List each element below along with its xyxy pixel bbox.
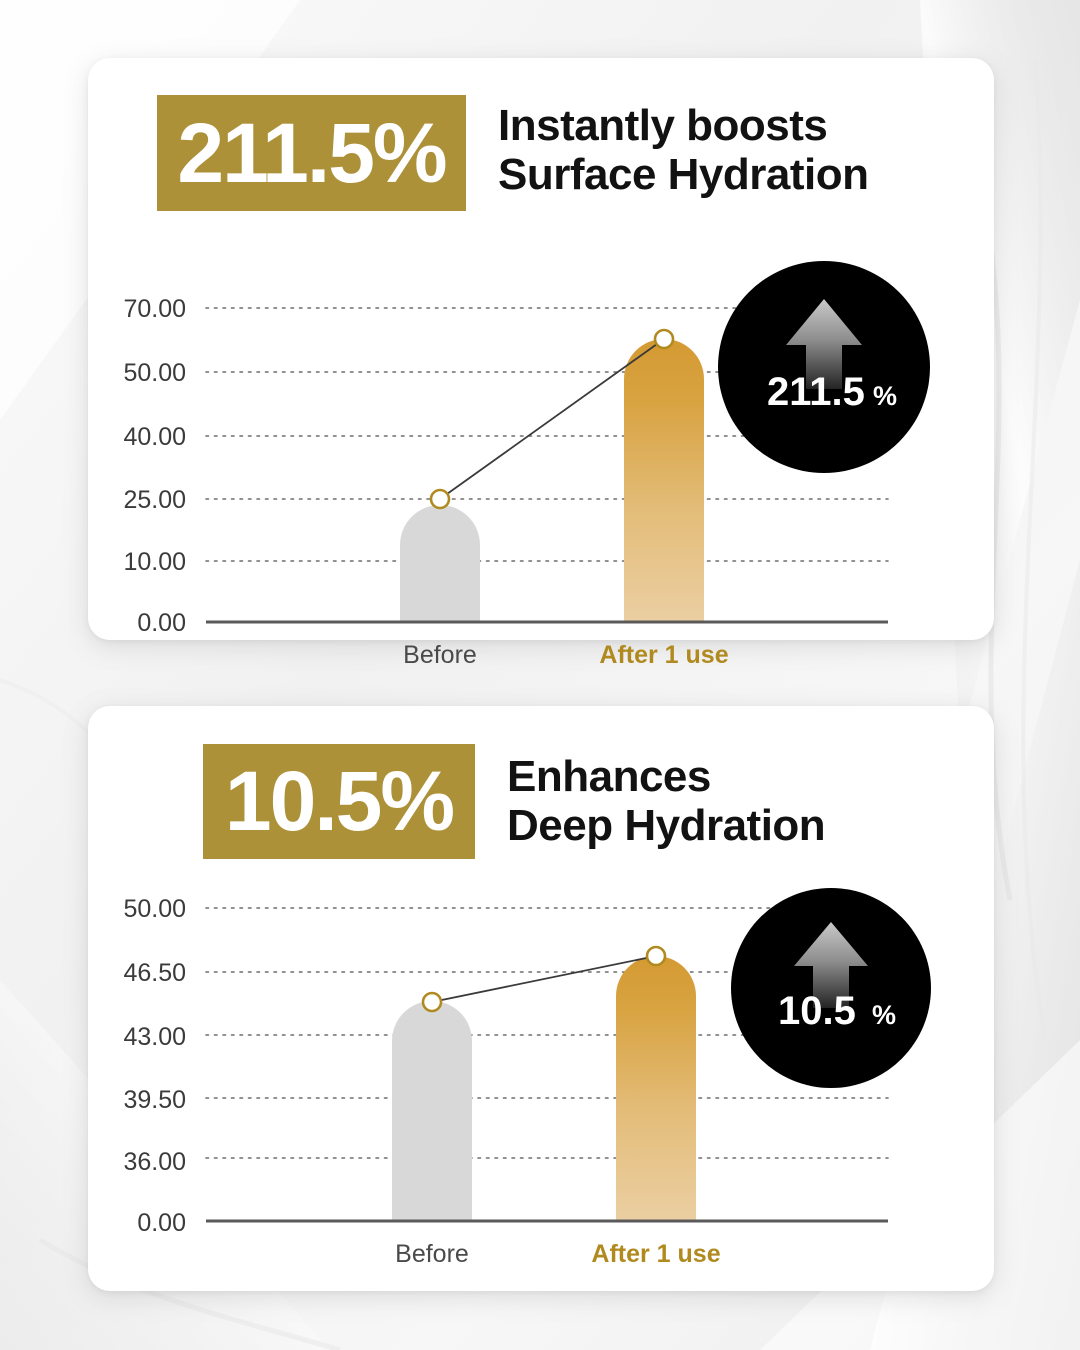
y-tick-label: 50.00 xyxy=(123,895,186,923)
bar-before xyxy=(400,505,480,622)
y-tick-label: 39.50 xyxy=(123,1086,186,1114)
data-point-marker-before xyxy=(431,490,449,508)
y-tick-label: 40.00 xyxy=(123,423,186,451)
card-header: 10.5% Enhances Deep Hydration xyxy=(203,744,825,859)
percent-highlight-badge: 10.5% xyxy=(203,744,475,859)
bar-after xyxy=(624,339,704,622)
x-tick-label-before: Before xyxy=(395,1240,469,1268)
y-tick-label: 0.00 xyxy=(137,609,186,637)
badge-unit: % xyxy=(872,1000,896,1030)
data-point-marker-before xyxy=(423,993,441,1011)
y-tick-label: 46.50 xyxy=(123,959,186,987)
y-axis-tick-labels: 50.00 46.50 43.00 39.50 36.00 0.00 xyxy=(123,895,186,1237)
bar-before xyxy=(392,1001,472,1221)
bar-chart-surface-hydration: 70.00 50.00 40.00 25.00 10.00 0.00 xyxy=(88,273,994,643)
badge-value: 211.5 xyxy=(767,370,865,414)
data-point-marker-after xyxy=(655,330,673,348)
x-tick-label-after: After 1 use xyxy=(591,1240,720,1268)
y-tick-label: 50.00 xyxy=(123,359,186,387)
percent-highlight-badge: 211.5% xyxy=(157,95,466,211)
y-tick-label: 25.00 xyxy=(123,486,186,514)
increase-badge: 211.5 % xyxy=(718,261,930,473)
card-header: 211.5% Instantly boosts Surface Hydratio… xyxy=(157,95,868,211)
data-point-marker-after xyxy=(647,947,665,965)
metric-card-surface-hydration: 211.5% Instantly boosts Surface Hydratio… xyxy=(88,58,994,640)
badge-unit: % xyxy=(873,381,897,411)
y-tick-label: 0.00 xyxy=(137,1209,186,1237)
y-tick-label: 70.00 xyxy=(123,295,186,323)
x-tick-label-after: After 1 use xyxy=(599,641,728,669)
bar-chart-deep-hydration: 50.00 46.50 43.00 39.50 36.00 0.00 xyxy=(88,876,994,1276)
card-title: Instantly boosts Surface Hydration xyxy=(498,101,868,200)
metric-card-deep-hydration: 10.5% Enhances Deep Hydration 50.0 xyxy=(88,706,994,1291)
y-tick-label: 43.00 xyxy=(123,1023,186,1051)
y-tick-label: 10.00 xyxy=(123,548,186,576)
x-tick-label-before: Before xyxy=(403,641,477,669)
badge-value: 10.5 xyxy=(778,989,856,1033)
card-title: Enhances Deep Hydration xyxy=(507,752,825,851)
increase-badge: 10.5 % xyxy=(731,888,931,1088)
bar-after xyxy=(616,956,696,1221)
y-tick-label: 36.00 xyxy=(123,1148,186,1176)
y-axis-tick-labels: 70.00 50.00 40.00 25.00 10.00 0.00 xyxy=(123,295,186,637)
